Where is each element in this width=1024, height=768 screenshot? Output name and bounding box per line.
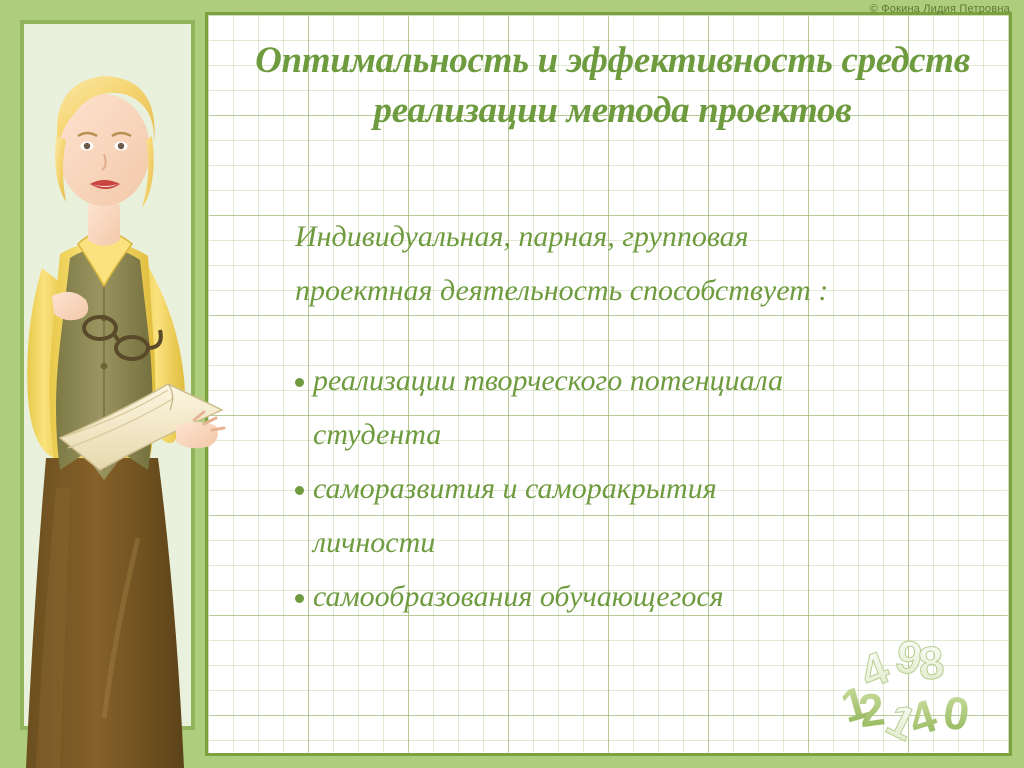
bullet-dot-icon bbox=[295, 378, 304, 387]
bullet-dot-icon bbox=[295, 594, 304, 603]
bullet-2-line-2: личности bbox=[313, 516, 1010, 570]
decorative-digits-pile: 1 2 4 9 8 4 0 1 bbox=[837, 637, 1002, 742]
lead-line-2: проектная деятельность способствует : bbox=[295, 264, 1010, 318]
bullet-list: реализации творческого потенциала студен… bbox=[295, 354, 1010, 624]
slide-title: Оптимальность и эффективность средств ре… bbox=[225, 36, 1000, 136]
bullet-3-line-1: самообразования обучающегося bbox=[313, 570, 1010, 624]
lead-paragraph: Индивидуальная, парная, групповая проект… bbox=[295, 210, 1010, 318]
svg-text:8: 8 bbox=[916, 637, 947, 690]
svg-text:0: 0 bbox=[940, 686, 973, 741]
title-line-2: реализации метода проектов bbox=[374, 90, 852, 131]
title-line-1: Оптимальность и эффективность средств bbox=[255, 40, 970, 81]
lead-line-1: Индивидуальная, парная, групповая bbox=[295, 210, 1010, 264]
bullet-1-line-1: реализации творческого потенциала bbox=[313, 354, 1010, 408]
woman-teacher-illustration bbox=[8, 18, 268, 768]
list-item: реализации творческого потенциала студен… bbox=[295, 354, 1010, 462]
presentation-slide: © Фокина Лидия Петровна Оптимальность и … bbox=[0, 0, 1024, 768]
bullet-dot-icon bbox=[295, 486, 304, 495]
slide-body: Индивидуальная, парная, групповая проект… bbox=[295, 210, 1010, 624]
bullet-2-line-1: саморазвития и саморакрытия bbox=[313, 462, 1010, 516]
copyright-notice: © Фокина Лидия Петровна bbox=[870, 3, 1010, 15]
bullet-1-line-2: студента bbox=[313, 408, 1010, 462]
list-item: самообразования обучающегося bbox=[295, 570, 1010, 624]
list-item: саморазвития и саморакрытия личности bbox=[295, 462, 1010, 570]
